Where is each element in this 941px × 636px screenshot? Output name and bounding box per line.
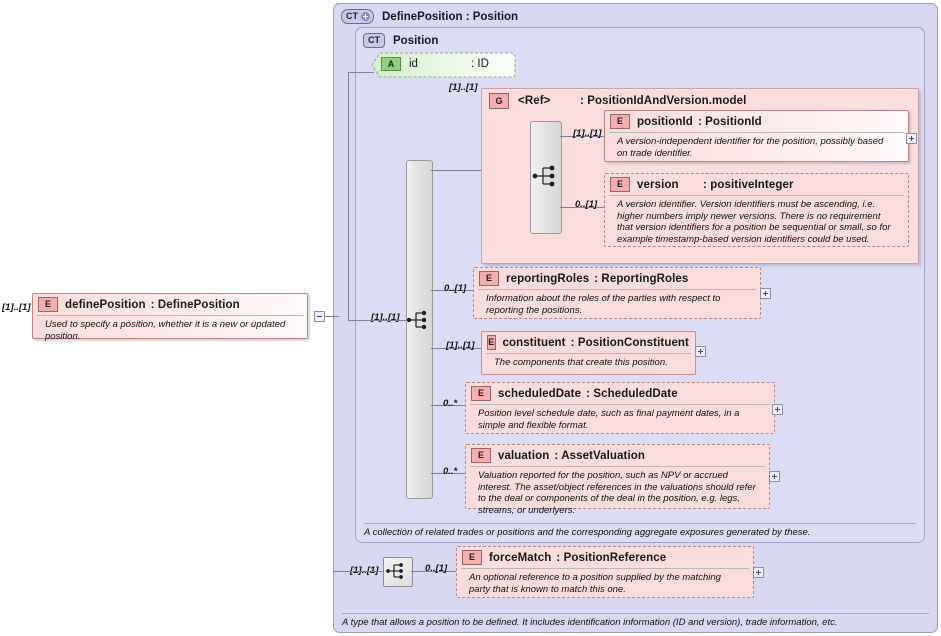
element-version-box[interactable]: E version : positiveInteger A version id… <box>604 173 909 247</box>
element-scheduleddate-type: : ScheduledDate <box>586 388 678 400</box>
group-ref-cardinality: [1]..[1] <box>449 82 478 93</box>
element-valuation-cardinality: 0..* <box>443 466 457 477</box>
element-version-type: : positiveInteger <box>703 179 794 191</box>
element-positionid-expand-toggle[interactable] <box>906 133 917 144</box>
group-ref-type: : PositionIdAndVersion.model <box>580 95 746 107</box>
element-positionid-cardinality: [1]..[1] <box>573 128 602 139</box>
element-valuation-documentation: Valuation reported for the position, suc… <box>470 466 765 520</box>
element-reportingroles-cardinality: 0..[1] <box>444 283 466 294</box>
sequence-glyph-icon <box>384 559 412 583</box>
element-valuation-type: : AssetValuation <box>554 450 645 462</box>
element-badge-icon: E <box>462 550 482 565</box>
element-reportingroles-name: reportingRoles <box>506 273 589 285</box>
element-badge-icon: E <box>38 297 58 312</box>
element-constituent-type: : PositionConstituent <box>571 337 689 349</box>
plus-circle-icon[interactable] <box>361 12 370 21</box>
element-forcematch-name: forceMatch <box>489 552 551 564</box>
complextype-position-header: CT Position <box>356 28 924 48</box>
element-constituent-cardinality: [1]..[1] <box>446 340 475 351</box>
element-forcematch-cardinality: 0..[1] <box>425 563 447 574</box>
element-defineposition-box[interactable]: E definePosition : DefinePosition Used t… <box>32 293 308 339</box>
element-badge-icon: E <box>471 386 491 401</box>
group-ref-name: <Ref> <box>518 95 580 107</box>
element-positionid-type: : PositionId <box>698 116 762 128</box>
element-forcematch-header: E forceMatch : PositionReference <box>457 547 753 568</box>
element-version-header: E version : positiveInteger <box>605 174 908 195</box>
complextype-position-documentation: A collection of related trades or positi… <box>364 523 916 538</box>
complextype-defineposition-documentation: A type that allows a position to be defi… <box>342 613 929 628</box>
element-version-name: version <box>637 179 703 191</box>
element-positionid-name: positionId <box>637 116 693 128</box>
element-scheduleddate-name: scheduledDate <box>498 388 581 400</box>
connector-defineposition-to-sequence <box>333 571 383 572</box>
attribute-id-box[interactable]: A id : ID <box>371 52 516 78</box>
element-constituent-name: constituent <box>503 337 566 349</box>
element-badge-icon: E <box>471 448 491 463</box>
element-scheduleddate-header: E scheduledDate : ScheduledDate <box>466 383 774 404</box>
complextype-position-label: Position <box>393 35 438 47</box>
element-badge-icon: E <box>487 335 496 350</box>
element-defineposition-header: E definePosition : DefinePosition <box>33 294 307 315</box>
attribute-id-type: : ID <box>471 58 489 70</box>
element-valuation-expand-toggle[interactable] <box>769 471 780 482</box>
element-scheduleddate-expand-toggle[interactable] <box>772 404 783 415</box>
element-reportingroles-documentation: Information about the roles of the parti… <box>478 289 756 320</box>
element-forcematch-expand-toggle[interactable] <box>753 567 764 578</box>
complextype-defineposition-header: CT+ CT DefinePosition : Position <box>334 4 937 24</box>
element-defineposition-collapse-toggle[interactable] <box>314 311 325 322</box>
complextype-defineposition-label: DefinePosition : Position <box>382 11 518 23</box>
group-badge-icon: G <box>489 93 509 109</box>
complextype-plus-badge-icon[interactable]: CT+ CT <box>341 9 374 24</box>
element-positionid-header: E positionId : PositionId <box>605 111 908 132</box>
element-version-cardinality: 0..[1] <box>575 199 597 210</box>
element-valuation-name: valuation <box>498 450 549 462</box>
element-badge-icon: E <box>479 271 499 286</box>
complextype-badge-icon[interactable]: CT <box>363 33 385 48</box>
element-reportingroles-expand-toggle[interactable] <box>760 288 771 299</box>
element-badge-icon: E <box>610 177 630 192</box>
connector-sequence-to-groupref <box>431 170 481 171</box>
element-reportingroles-type: : ReportingRoles <box>594 273 688 285</box>
element-reportingroles-header: E reportingRoles : ReportingRoles <box>474 268 760 289</box>
element-reportingroles-box[interactable]: E reportingRoles : ReportingRoles Inform… <box>473 267 761 319</box>
element-scheduleddate-cardinality: 0..* <box>443 398 457 409</box>
element-constituent-expand-toggle[interactable] <box>695 346 706 357</box>
element-defineposition-documentation: Used to specify a position, whether it i… <box>37 315 303 346</box>
ct-text: CT <box>346 12 358 21</box>
element-forcematch-type: : PositionReference <box>556 552 666 564</box>
element-constituent-box[interactable]: E constituent : PositionConstituent The … <box>481 331 696 375</box>
element-positionid-documentation: A version-independent identifier for the… <box>609 132 904 163</box>
element-badge-icon: E <box>610 114 630 129</box>
element-defineposition-name: definePosition <box>65 299 146 311</box>
element-scheduleddate-box[interactable]: E scheduledDate : ScheduledDate Position… <box>465 382 775 434</box>
connector-trunk-to-attribute <box>348 72 374 73</box>
sequence-glyph-icon <box>407 308 435 332</box>
element-positionid-box[interactable]: E positionId : PositionId A version-inde… <box>604 110 909 162</box>
element-forcematch-documentation: An optional reference to a position supp… <box>461 568 749 599</box>
element-defineposition-type: : DefinePosition <box>151 299 240 311</box>
element-valuation-box[interactable]: E valuation : AssetValuation Valuation r… <box>465 444 770 509</box>
attribute-id-name: id <box>409 58 471 70</box>
element-constituent-header: E constituent : PositionConstituent <box>482 332 695 353</box>
element-scheduleddate-documentation: Position level schedule date, such as fi… <box>470 404 770 435</box>
element-defineposition-cardinality: [1]..[1] <box>2 302 31 313</box>
connector-trunk-to-position-sequence <box>348 320 406 321</box>
connector-trunk-vertical <box>348 72 349 321</box>
position-sequence-cardinality: [1]..[1] <box>371 312 400 323</box>
element-version-documentation: A version identifier. Version identifier… <box>609 195 904 249</box>
group-ref-header: G <Ref> : PositionIdAndVersion.model <box>482 89 918 111</box>
element-forcematch-box[interactable]: E forceMatch : PositionReference An opti… <box>456 546 754 598</box>
element-valuation-header: E valuation : AssetValuation <box>466 445 769 466</box>
attribute-badge-icon: A <box>381 57 401 71</box>
element-constituent-documentation: The components that create this position… <box>486 353 691 373</box>
connector-defineposition-out <box>325 316 339 317</box>
sequence-glyph-icon <box>532 164 562 188</box>
